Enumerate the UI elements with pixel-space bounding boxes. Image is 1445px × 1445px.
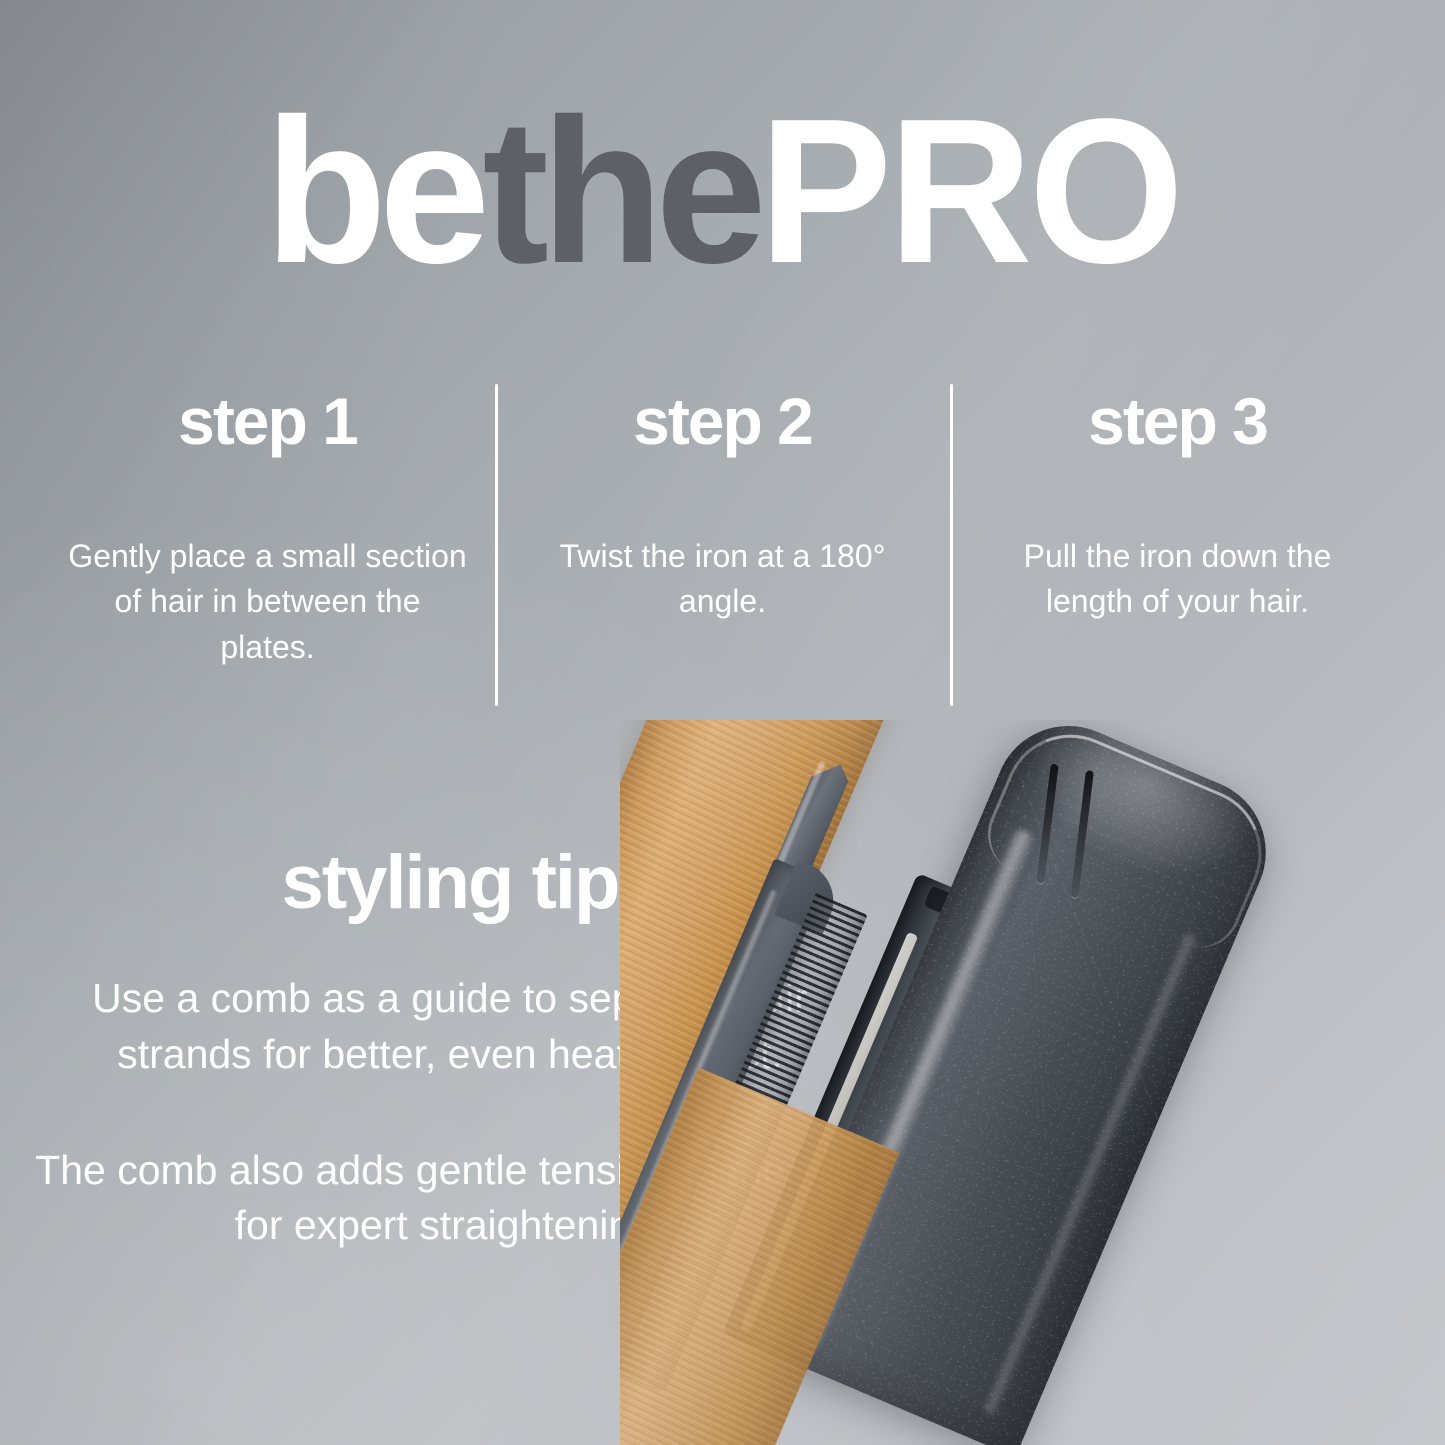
flat-iron-vent-1 xyxy=(1036,764,1059,884)
step-item-3: step 3 Pull the iron down the length of … xyxy=(950,372,1405,712)
styling-tip-paragraph-1: Use a comb as a guide to separate hair s… xyxy=(20,971,880,1083)
brand-headline: bethePRO xyxy=(22,88,1424,294)
step-item-2: step 2 Twist the iron at a 180° angle. xyxy=(495,372,950,712)
step-2-body: Twist the iron at a 180° angle. xyxy=(558,534,888,625)
headline-word-the: the xyxy=(482,76,758,306)
steps-section: step 1 Gently place a small section of h… xyxy=(40,372,1405,712)
step-1-body: Gently place a small section of hair in … xyxy=(68,534,468,670)
step-item-1: step 1 Gently place a small section of h… xyxy=(40,372,495,712)
styling-tip-title: styling tip xyxy=(20,845,880,921)
flat-iron-hinge xyxy=(924,885,960,917)
headline-word-pro: PRO xyxy=(759,76,1180,306)
flat-iron-cap-rim xyxy=(976,720,1282,960)
flat-iron-highlight-right xyxy=(981,932,1199,1417)
step-1-title: step 1 xyxy=(178,388,357,454)
step-3-title: step 3 xyxy=(1088,388,1267,454)
step-2-title: step 2 xyxy=(633,388,812,454)
headline-word-be: be xyxy=(265,76,483,306)
step-3-body: Pull the iron down the length of your ha… xyxy=(993,534,1363,625)
flat-iron-vent-2 xyxy=(1070,770,1094,898)
infographic-canvas: bethePRO step 1 Gently place a small sec… xyxy=(0,0,1445,1445)
styling-tip-section: styling tip Use a comb as a guide to sep… xyxy=(20,845,880,1254)
styling-tip-paragraph-2: The comb also adds gentle tension to the… xyxy=(20,1143,880,1255)
